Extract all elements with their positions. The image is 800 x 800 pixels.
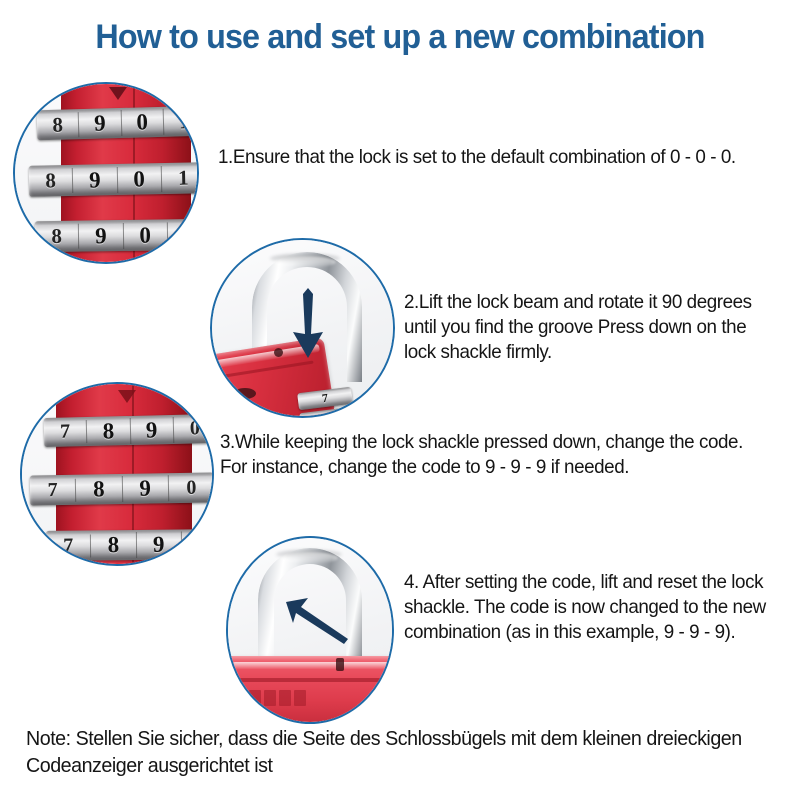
- note-text: Note: Stellen Sie sicher, dass die Seite…: [26, 726, 756, 779]
- code-marker-triangle-1: [109, 87, 127, 100]
- dial-wheel-2[interactable]: 8 9 0 1: [29, 162, 197, 197]
- page-title: How to use and set up a new combination: [20, 18, 780, 57]
- dial-digit: 8: [35, 224, 80, 250]
- step-3-text: 3.While keeping the lock shackle pressed…: [220, 430, 766, 480]
- dial-digit: 8: [87, 417, 131, 444]
- dial-wheel-1[interactable]: 7 8 9 0: [44, 414, 212, 447]
- dial-digit: 8: [91, 532, 137, 558]
- dial-digit: 1: [163, 108, 197, 134]
- dial-scene-1: 8 9 0 1 8 9 0 1 8 9 0 1: [15, 84, 197, 262]
- dial-digit: 0: [121, 109, 164, 136]
- dial-digit: 9: [130, 416, 174, 443]
- dial-digit: 0: [173, 417, 212, 441]
- lock-body-gloss-4: [232, 662, 390, 669]
- step-2-photo: 7 8: [210, 238, 395, 418]
- step-1-text: 1.Ensure that the lock is set to the def…: [218, 145, 760, 170]
- dial-digit: 8: [76, 476, 123, 503]
- step-4-photo-inner: [228, 538, 392, 722]
- dial-digit: 0: [169, 476, 212, 500]
- shackle-notch-4: [336, 658, 344, 671]
- dial-digit: 7: [30, 478, 77, 502]
- dial-digit: 0: [182, 533, 212, 556]
- lock-scene-4: [228, 538, 392, 722]
- shackle-shadow-4: [276, 550, 342, 559]
- dial-wheel-3[interactable]: 8 9 0 1: [35, 219, 197, 252]
- dial-digit: 1: [161, 165, 197, 191]
- step-2-text: 2.Lift the lock beam and rotate it 90 de…: [404, 290, 763, 365]
- code-marker-triangle-3: [118, 390, 136, 403]
- dial-digit: 7: [46, 534, 91, 557]
- dial-digit: 7: [44, 420, 88, 444]
- shackle-shadow-2: [270, 254, 340, 263]
- step-1-photo-inner: 8 9 0 1 8 9 0 1 8 9 0 1: [15, 84, 197, 262]
- step-4-photo: [226, 536, 394, 724]
- dial-digit: 9: [136, 532, 182, 558]
- arrow-down-icon-2: [290, 288, 326, 360]
- lock-scene-2: 7 8: [212, 240, 393, 416]
- dial-digit: 1: [168, 222, 197, 248]
- shackle-notch-2: [274, 348, 283, 357]
- lock-body-ridges-4: [234, 690, 306, 706]
- dial-digit: 9: [73, 166, 118, 193]
- dial-digit: 0: [117, 166, 162, 193]
- step-1-photo: 8 9 0 1 8 9 0 1 8 9 0 1: [13, 82, 199, 264]
- step-2-photo-inner: 7 8: [212, 240, 393, 416]
- step-3-photo: 7 8 9 0 7 8 9 0 7 8 9 0: [20, 382, 214, 566]
- arrow-up-left-icon-4: [284, 596, 350, 646]
- dial-digit: 8: [29, 168, 74, 194]
- step-3-photo-inner: 7 8 9 0 7 8 9 0 7 8 9 0: [22, 384, 212, 564]
- lock-keyway-2: [234, 388, 256, 399]
- dial-digit: 8: [37, 112, 80, 138]
- dial-digit: 9: [79, 222, 124, 249]
- step-4-text: 4. After setting the code, lift and rese…: [404, 570, 771, 645]
- dial-wheel-3[interactable]: 7 8 9 0: [46, 529, 212, 561]
- dial-scene-3: 7 8 9 0 7 8 9 0 7 8 9 0: [22, 384, 212, 564]
- dial-digit: 9: [122, 475, 169, 502]
- dial-digit: 9: [79, 110, 122, 137]
- lock-body-groove-4: [232, 678, 390, 682]
- dial-wheel-1[interactable]: 8 9 0 1: [37, 106, 197, 141]
- dial-wheel-2[interactable]: 7 8 9 0: [30, 472, 212, 505]
- dial-digit: 0: [123, 222, 168, 249]
